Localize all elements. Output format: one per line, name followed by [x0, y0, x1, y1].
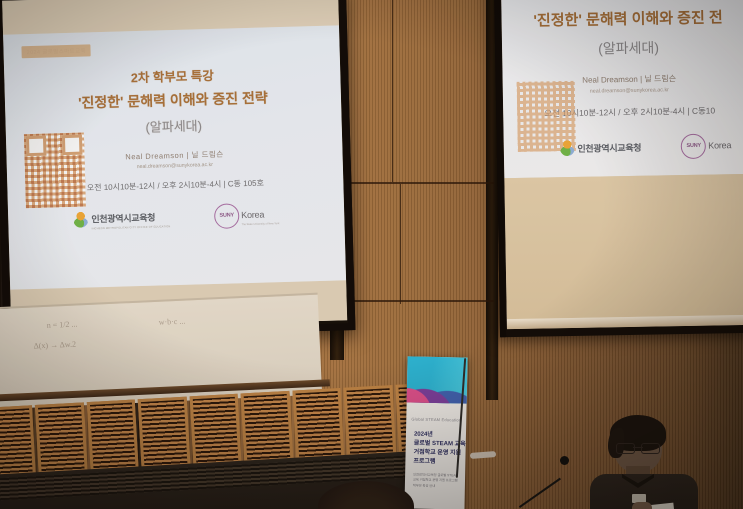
- photo-vignette: [0, 0, 743, 509]
- lecture-hall-photo: 2024 글로벌스마트교육 2차 학부모 특강 '진정한' 문해력 이해와 증진…: [0, 0, 743, 509]
